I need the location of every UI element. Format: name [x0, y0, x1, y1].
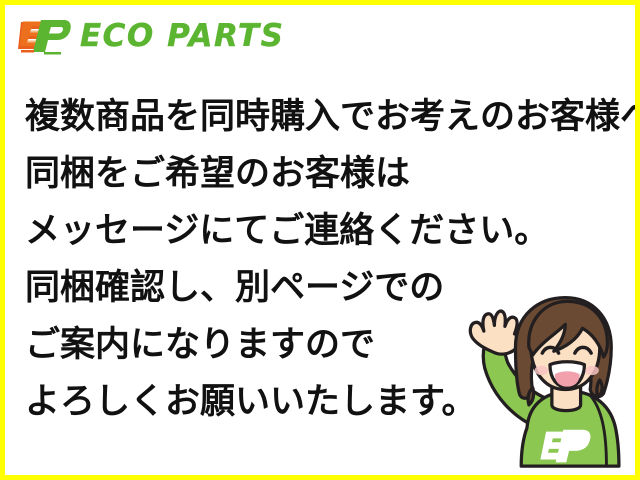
message-line-2: 同梱をご希望のお客様は — [25, 146, 625, 203]
ep-monogram-logo-icon — [18, 17, 72, 55]
brand-header: ECO PARTS — [18, 13, 284, 59]
waving-woman-illustration-icon — [445, 288, 630, 470]
promo-banner: ECO PARTS 複数商品を同時購入でお考えのお客様へ 同梱をご希望のお客様は… — [0, 0, 640, 480]
message-line-3: メッセージにてご連絡ください。 — [25, 203, 625, 260]
message-line-1: 複数商品を同時購入でお考えのお客様へ — [25, 89, 625, 146]
brand-wordmark: ECO PARTS — [80, 21, 284, 52]
